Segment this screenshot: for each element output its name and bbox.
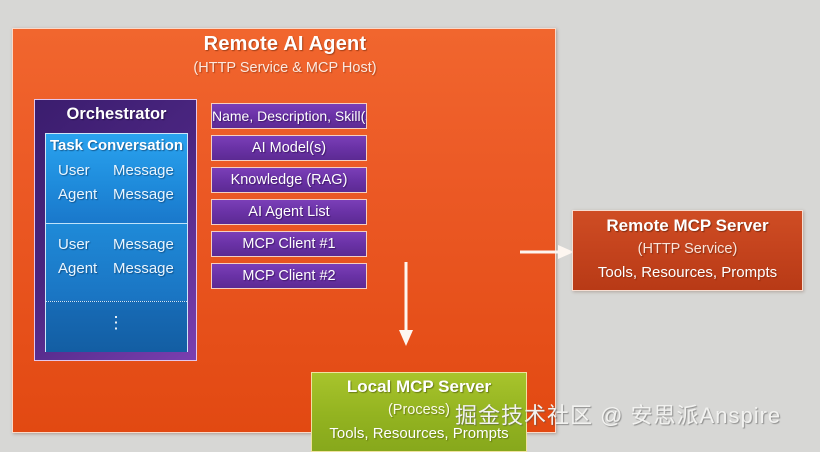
remote-ai-agent-title: Remote AI Agent	[13, 33, 557, 56]
message-role: Agent	[58, 260, 97, 277]
message-text: Message	[113, 186, 174, 203]
message-text: Message	[113, 260, 174, 277]
task-conversation-box: Task Conversation User Message Agent Mes…	[45, 133, 188, 352]
remote-mcp-server-box: Remote MCP Server (HTTP Service) Tools, …	[572, 210, 803, 291]
task-conversation-segment-2: User Message Agent Message	[46, 223, 187, 301]
capability-box-mcp-client-1: MCP Client #1	[211, 231, 367, 257]
conversation-row: Agent Message	[46, 260, 187, 284]
remote-mcp-server-title: Remote MCP Server	[573, 216, 802, 236]
remote-mcp-server-subtitle: (HTTP Service)	[573, 241, 802, 257]
orchestrator-panel: Orchestrator Task Conversation User Mess…	[34, 99, 197, 361]
remote-mcp-server-capabilities: Tools, Resources, Prompts	[573, 264, 802, 281]
message-role: User	[58, 162, 90, 179]
arrow-to-local-mcp-server-icon	[396, 262, 416, 346]
conversation-row: User Message	[46, 236, 187, 260]
message-role: User	[58, 236, 90, 253]
capability-box-ai-agent-list: AI Agent List	[211, 199, 367, 225]
message-role: Agent	[58, 186, 97, 203]
capability-box-ai-models: AI Model(s)	[211, 135, 367, 161]
task-conversation-heading: Task Conversation	[46, 137, 187, 154]
more-conversations-ellipsis-icon: ⋮	[46, 316, 187, 330]
arrow-to-remote-mcp-server-icon	[520, 243, 574, 261]
capability-box-knowledge-rag: Knowledge (RAG)	[211, 167, 367, 193]
watermark: 掘金技术社区 @ 安思派Anspire	[455, 398, 815, 430]
capability-box-name-description-skills: Name, Description, Skill(s)	[211, 103, 367, 129]
task-conversation-segment-1: Task Conversation User Message Agent Mes…	[46, 134, 187, 223]
remote-ai-agent-subtitle: (HTTP Service & MCP Host)	[13, 60, 557, 76]
message-text: Message	[113, 236, 174, 253]
orchestrator-title: Orchestrator	[35, 105, 198, 124]
capability-box-mcp-client-2: MCP Client #2	[211, 263, 367, 289]
conversation-row: Agent Message	[46, 186, 187, 210]
local-mcp-server-title: Local MCP Server	[312, 377, 526, 397]
conversation-row: User Message	[46, 162, 187, 186]
remote-ai-agent-panel: Remote AI Agent (HTTP Service & MCP Host…	[12, 28, 556, 433]
message-text: Message	[113, 162, 174, 179]
task-conversation-segment-3: ⋮	[46, 301, 187, 352]
diagram-canvas: Remote AI Agent (HTTP Service & MCP Host…	[0, 0, 820, 450]
